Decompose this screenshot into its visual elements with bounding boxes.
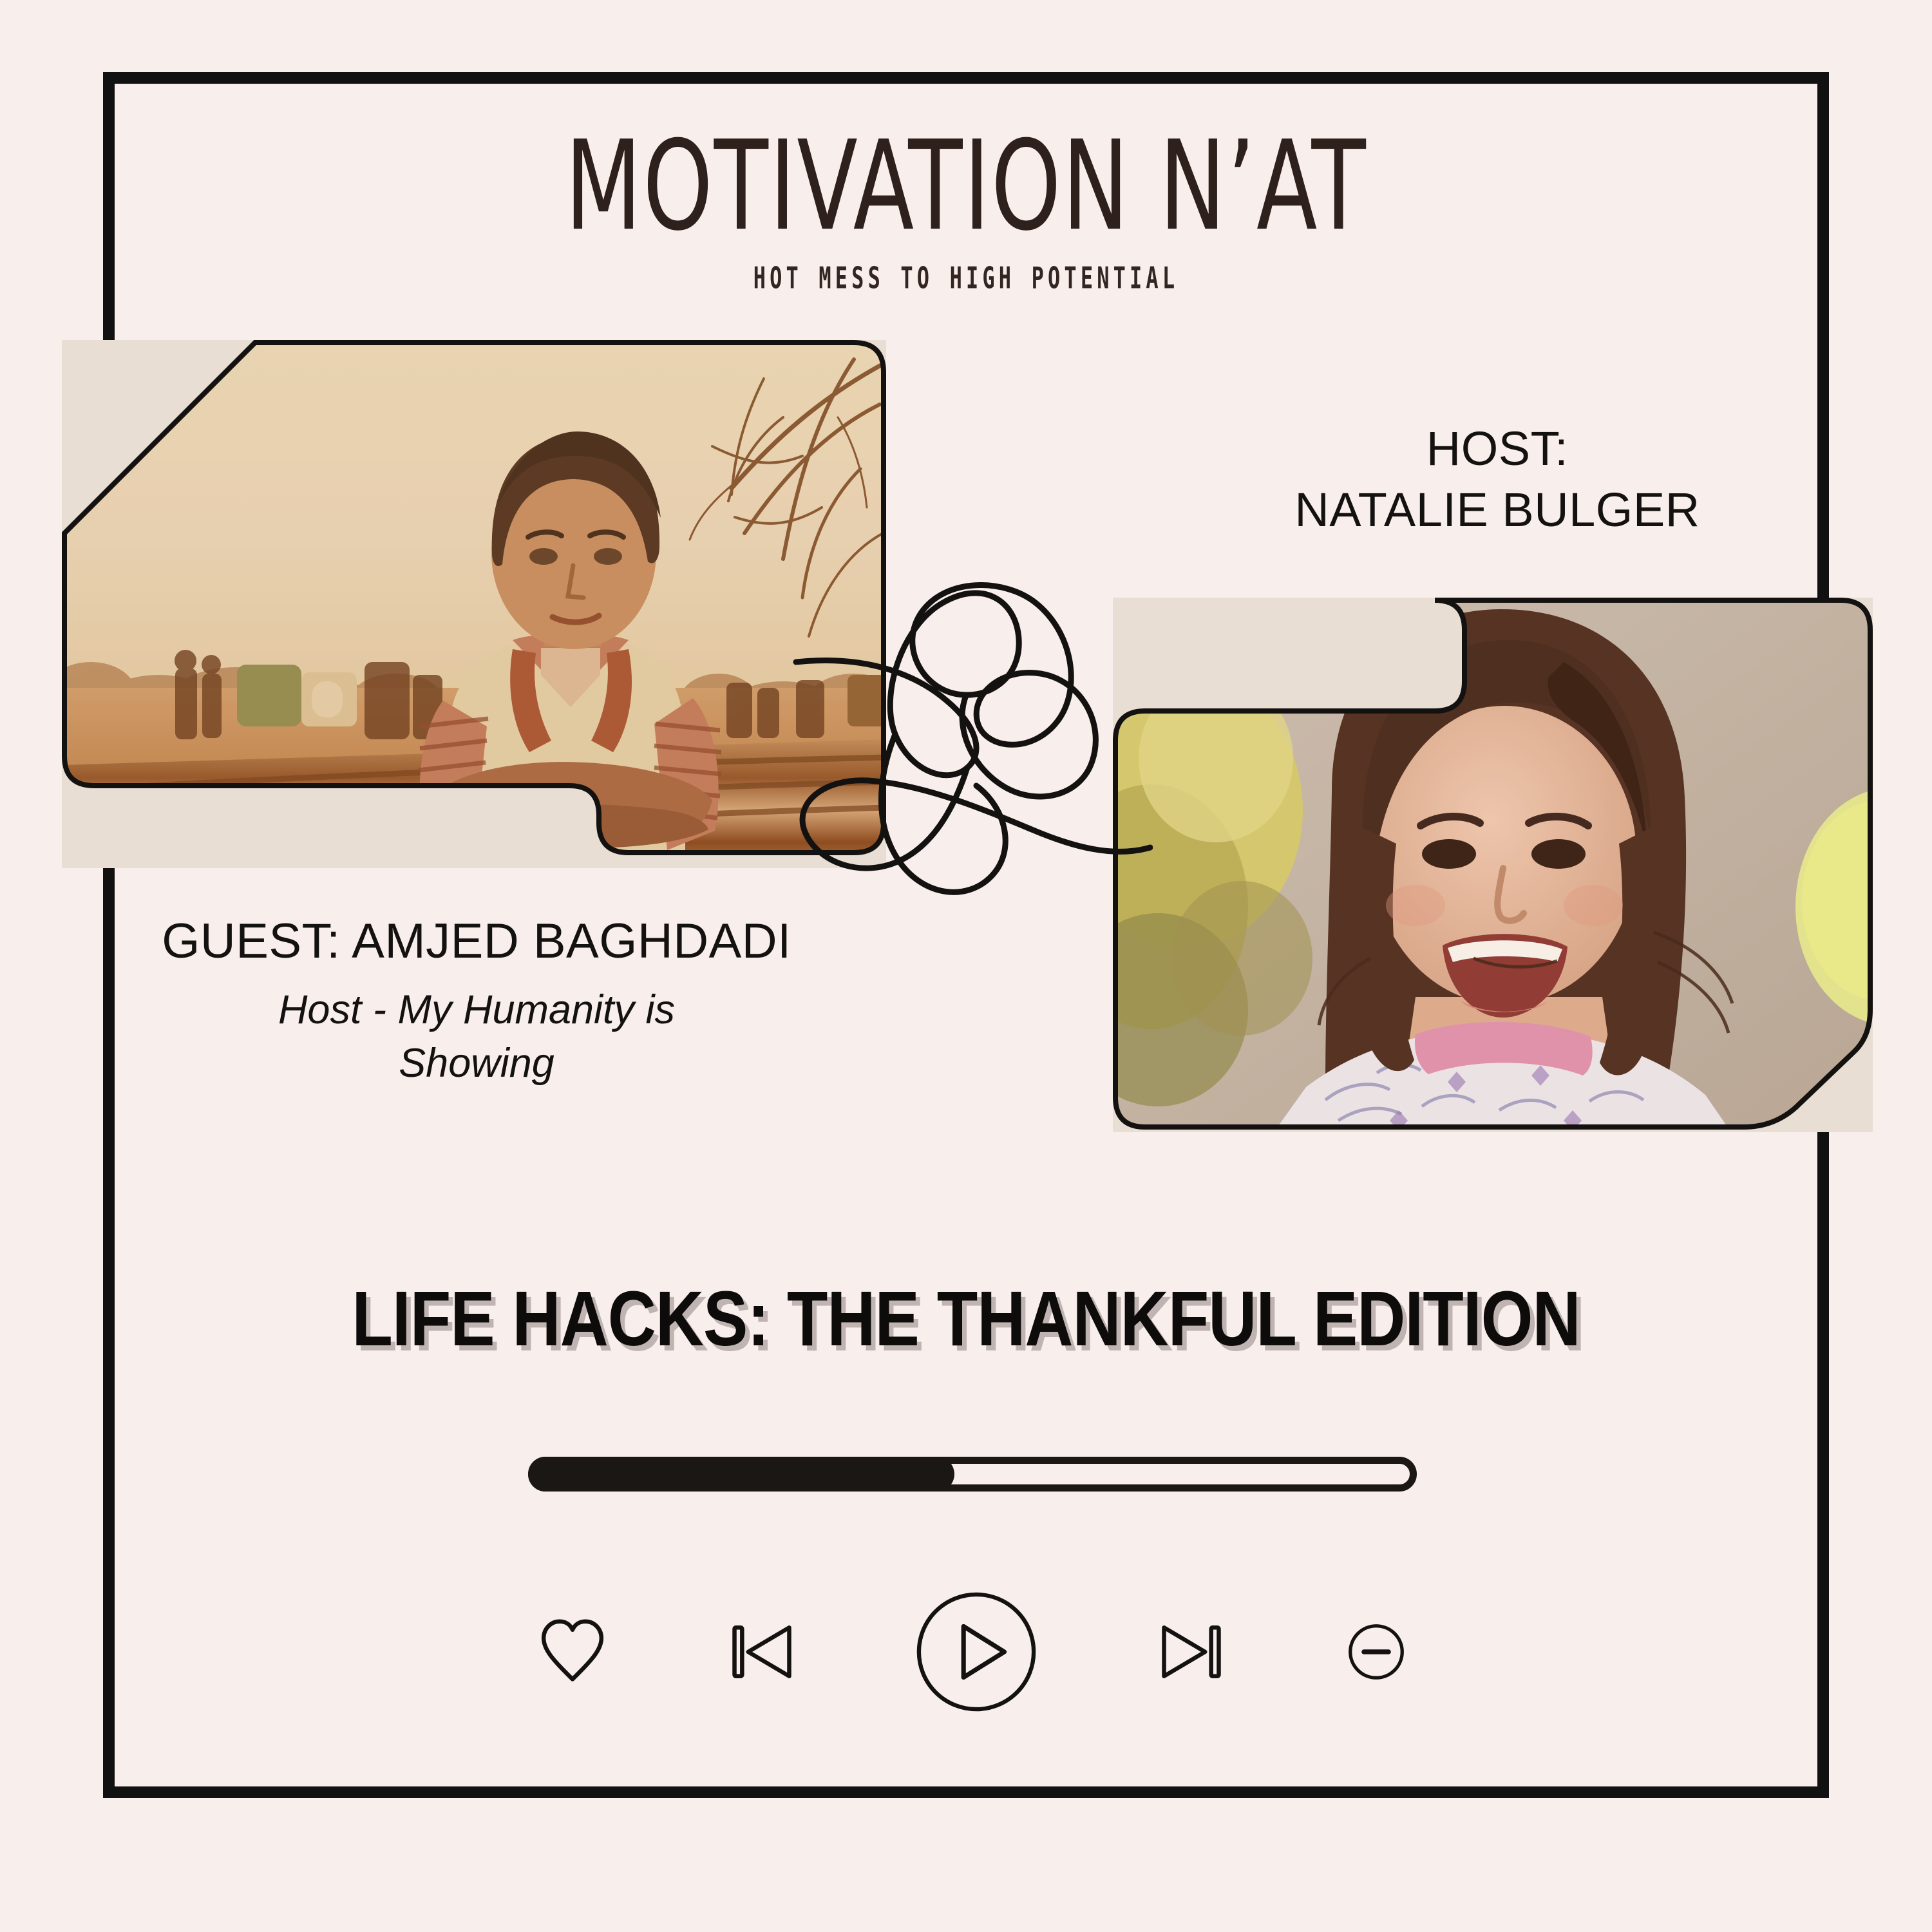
host-name: NATALIE BULGER [1211, 480, 1784, 541]
guest-credit: GUEST: AMJED BAGHDADI Host - My Humanity… [97, 913, 857, 1090]
play-icon[interactable] [913, 1588, 1040, 1716]
host-photo [1113, 598, 1873, 1132]
host-label: HOST: [1211, 419, 1784, 480]
next-track-icon[interactable] [1153, 1614, 1229, 1690]
show-tagline: HOT MESS TO HIGH POTENTIAL [174, 261, 1758, 296]
player-controls [489, 1571, 1455, 1732]
episode-title: LIFE HACKS: THE THANKFUL EDITION [0, 1275, 1932, 1364]
progress-fill [528, 1457, 954, 1492]
show-title: MOTIVATION N’AT [77, 122, 1855, 252]
progress-bar[interactable] [528, 1457, 1417, 1492]
guest-name: GUEST: AMJED BAGHDADI [97, 913, 857, 969]
host-credit: HOST: NATALIE BULGER [1211, 419, 1784, 540]
scribble-doodle [792, 541, 1153, 921]
minus-circle-icon[interactable] [1342, 1618, 1410, 1686]
guest-subtitle: Host - My Humanity is Showing [97, 983, 857, 1090]
guest-photo [62, 340, 886, 868]
podcast-cover: MOTIVATION N’AT HOT MESS TO HIGH POTENTI… [0, 0, 1932, 1932]
previous-track-icon[interactable] [724, 1614, 800, 1690]
show-header: MOTIVATION N’AT HOT MESS TO HIGH POTENTI… [0, 122, 1932, 290]
like-icon[interactable] [535, 1614, 611, 1690]
